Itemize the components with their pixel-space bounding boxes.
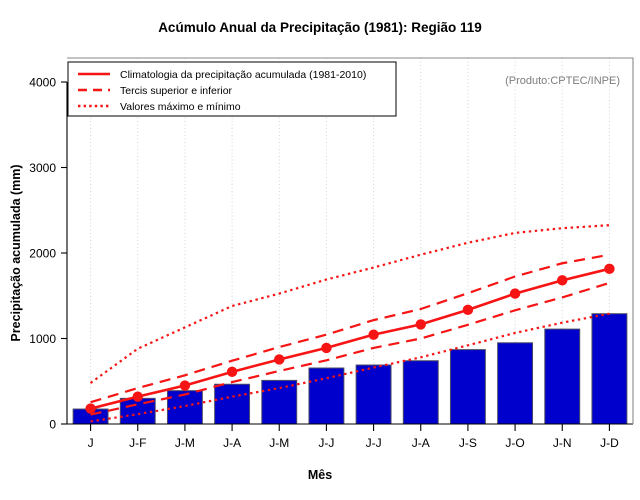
climatology-point [416, 319, 426, 329]
producer-credit: (Produto:CPTEC/INPE) [505, 75, 620, 87]
chart-title: Acúmulo Anual da Precipitação (1981): Re… [158, 20, 482, 35]
climatology-point [227, 367, 237, 377]
y-axis-title: Precipitação acumulada (mm) [9, 164, 23, 341]
climatology-point [274, 354, 284, 364]
chart-legend: Climatologia da precipitação acumulada (… [68, 62, 396, 116]
bar [215, 384, 250, 424]
x-tick-label: J [88, 436, 94, 450]
climatology-point [133, 391, 143, 401]
chart-canvas: Acúmulo Anual da Precipitação (1981): Re… [0, 0, 640, 500]
climatology-point [180, 380, 190, 390]
x-tick-label: J-J [318, 436, 334, 450]
bar [450, 350, 485, 424]
bar [545, 329, 580, 424]
y-tick-label: 3000 [29, 161, 56, 175]
x-axis-ticks: JJ-FJ-MJ-AJ-MJ-JJ-JJ-AJ-SJ-OJ-NJ-D [88, 424, 619, 450]
climatology-point [557, 275, 567, 285]
climatology-point [510, 288, 520, 298]
x-tick-label: J-F [129, 436, 146, 450]
x-tick-label: J-A [412, 436, 430, 450]
bar [592, 314, 627, 424]
y-tick-label: 0 [49, 418, 56, 432]
x-tick-label: J-S [459, 436, 477, 450]
x-tick-label: J-J [366, 436, 382, 450]
x-tick-label: J-D [600, 436, 619, 450]
precipitation-chart: Acúmulo Anual da Precipitação (1981): Re… [0, 0, 640, 500]
climatology-point [604, 264, 614, 274]
x-tick-label: J-M [269, 436, 289, 450]
climatology-point [368, 329, 378, 339]
bar [356, 365, 391, 424]
x-tick-label: J-A [223, 436, 241, 450]
y-tick-label: 1000 [29, 332, 56, 346]
bar [403, 361, 438, 424]
y-tick-label: 2000 [29, 247, 56, 261]
climatology-point [85, 403, 95, 413]
y-axis-ticks: 01000200030004000 [29, 76, 67, 432]
y-tick-label: 4000 [29, 76, 56, 90]
x-tick-label: J-O [505, 436, 524, 450]
bar [167, 391, 202, 424]
x-tick-label: J-M [175, 436, 195, 450]
legend-label-climatology: Climatologia da precipitação acumulada (… [120, 69, 366, 81]
x-tick-label: J-N [553, 436, 572, 450]
climatology-point [463, 305, 473, 315]
legend-label-tercis: Tercis superior e inferior [120, 85, 233, 97]
bar [262, 380, 297, 424]
legend-label-extremes: Valores máximo e mínimo [120, 101, 241, 113]
climatology-point [321, 343, 331, 353]
x-axis-title: Mês [308, 468, 332, 482]
bar [498, 343, 533, 424]
